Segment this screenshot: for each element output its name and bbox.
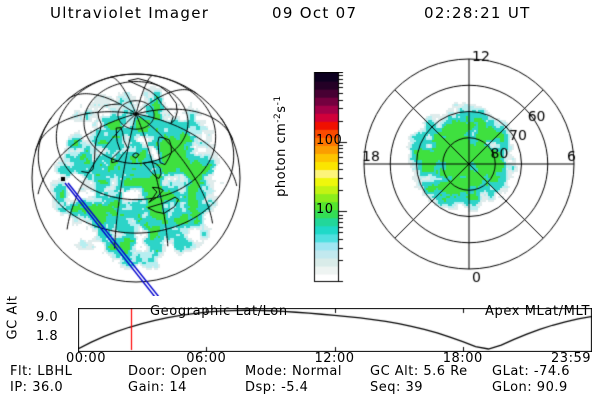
header-bar: Ultraviolet Imager 09 Oct 07 02:28:21 UT bbox=[0, 4, 600, 30]
status-field-label: Dsp: bbox=[245, 380, 281, 395]
geographic-panel-caption: Geographic Lat/Lon bbox=[150, 304, 288, 319]
status-field-label: GC Alt: bbox=[370, 364, 423, 379]
polar-panel-caption: Apex MLat/MLT bbox=[485, 304, 590, 319]
status-field-value: 36.0 bbox=[32, 380, 63, 395]
colorbar-canvas bbox=[288, 72, 360, 287]
status-field-value: -74.6 bbox=[534, 364, 570, 379]
status-field: Gain: 14 bbox=[128, 380, 187, 395]
status-field-value: Normal bbox=[292, 364, 342, 379]
status-field-value: -5.4 bbox=[281, 380, 308, 395]
status-field: Flt: LBHL bbox=[10, 364, 72, 379]
geographic-aurora-canvas bbox=[6, 46, 256, 296]
observation-date: 09 Oct 07 bbox=[272, 4, 357, 22]
status-field-label: Seq: bbox=[370, 380, 406, 395]
status-field: Seq: 39 bbox=[370, 380, 423, 395]
observation-time: 02:28:21 UT bbox=[424, 4, 531, 22]
status-field-label: GLat: bbox=[492, 364, 534, 379]
status-field-label: Mode: bbox=[245, 364, 292, 379]
status-field-label: Gain: bbox=[128, 380, 169, 395]
colorbar-scale bbox=[288, 72, 360, 287]
colorbar-group: photon cm-2s-1 100 10 bbox=[258, 46, 358, 296]
orbit-ytick-high: 9.0 bbox=[36, 310, 58, 325]
status-field: Door: Open bbox=[128, 364, 207, 379]
status-field-label: Flt: bbox=[10, 364, 37, 379]
status-field-value: Open bbox=[171, 364, 208, 379]
status-field: Dsp: -5.4 bbox=[245, 380, 308, 395]
status-field: IP: 36.0 bbox=[10, 380, 63, 395]
status-field-value: 39 bbox=[406, 380, 424, 395]
orbit-plot-area[interactable]: Geographic Lat/Lon Apex MLat/MLT 00:0006… bbox=[78, 308, 592, 352]
polar-mlat-mlt-panel[interactable] bbox=[352, 46, 596, 296]
status-field: GLat: -74.6 bbox=[492, 364, 570, 379]
status-field-value: 14 bbox=[169, 380, 187, 395]
status-field: Mode: Normal bbox=[245, 364, 342, 379]
status-readout: Flt: LBHLDoor: OpenMode: NormalGC Alt: 5… bbox=[0, 364, 600, 398]
orbit-altitude-section: GC Alt 9.0 1.8 Geographic Lat/Lon Apex M… bbox=[0, 296, 600, 358]
status-field-label: IP: bbox=[10, 380, 32, 395]
status-field: GLon: 90.9 bbox=[492, 380, 568, 395]
colorbar-tick-label-100: 100 bbox=[316, 133, 342, 148]
status-field-value: 5.6 Re bbox=[423, 364, 467, 379]
orbit-y-axis-label: GC Alt bbox=[6, 288, 21, 348]
orbit-ytick-low: 1.8 bbox=[36, 329, 58, 344]
polar-aurora-canvas bbox=[352, 46, 596, 296]
colorbar-tick-label-10: 10 bbox=[316, 202, 334, 217]
status-field-label: Door: bbox=[128, 364, 171, 379]
status-field-value: 90.9 bbox=[537, 380, 568, 395]
status-field-label: GLon: bbox=[492, 380, 537, 395]
status-field: GC Alt: 5.6 Re bbox=[370, 364, 468, 379]
colorbar-axis-label: photon cm-2s-1 bbox=[273, 81, 289, 211]
geographic-image-panel[interactable] bbox=[6, 46, 256, 296]
status-field-value: LBHL bbox=[37, 364, 72, 379]
instrument-title: Ultraviolet Imager bbox=[50, 4, 209, 22]
